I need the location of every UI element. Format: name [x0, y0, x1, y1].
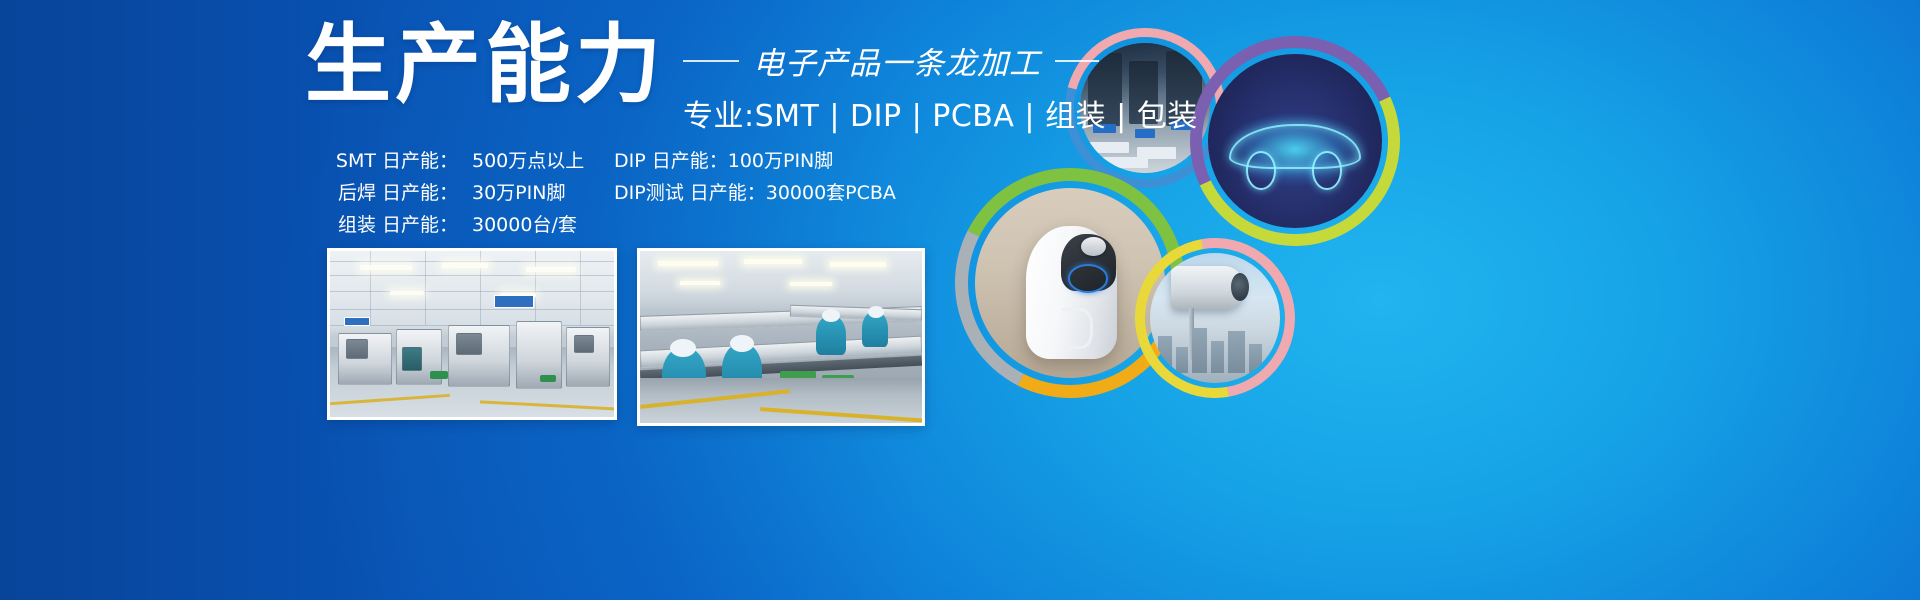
- spec-column-right: DIP 日产能： 100万PIN脚 DIP测试 日产能： 30000套PCBA: [614, 146, 896, 242]
- dash-right-icon: [1055, 60, 1099, 62]
- spec-row-smt: SMT 日产能： 500万点以上: [326, 146, 614, 178]
- page-title: 生产能力: [305, 22, 665, 110]
- automotive-electronics-photo: [1208, 54, 1382, 228]
- capacity-spec-list: SMT 日产能： 500万点以上 后焊 日产能： 30万PIN脚 组装 日产能：…: [326, 146, 896, 242]
- spec-label: 后焊 日产能：: [326, 178, 458, 205]
- subtitle-line-2: 专业:SMT | DIP | PCBA | 组装 | 包装: [683, 91, 1198, 135]
- subtitle-line-1: 电子产品一条龙加工: [683, 38, 1198, 83]
- spec-label: SMT 日产能：: [326, 146, 458, 173]
- spec-label: DIP测试 日产能：: [614, 178, 766, 205]
- spec-column-left: SMT 日产能： 500万点以上 后焊 日产能： 30万PIN脚 组装 日产能：…: [326, 146, 614, 242]
- spec-value: 30万PIN脚: [472, 178, 565, 205]
- spec-row-assembly: 组装 日产能： 30000台/套: [326, 210, 614, 242]
- spec-value: 30000套PCBA: [766, 178, 896, 205]
- photo-content: [640, 251, 922, 423]
- spec-label: DIP 日产能：: [614, 146, 728, 173]
- subtitle-group: 电子产品一条龙加工 专业:SMT | DIP | PCBA | 组装 | 包装: [683, 38, 1198, 135]
- subtitle-text: 电子产品一条龙加工: [753, 38, 1041, 83]
- spec-row-post-solder: 后焊 日产能： 30万PIN脚: [326, 178, 614, 210]
- spec-label: 组装 日产能：: [326, 210, 458, 237]
- production-capacity-banner: 生产能力 电子产品一条龙加工 专业:SMT | DIP | PCBA | 组装 …: [0, 0, 1920, 600]
- air-fryer-product-photo: [975, 188, 1165, 378]
- spec-value: 500万点以上: [472, 146, 584, 173]
- spec-value: 30000台/套: [472, 210, 577, 237]
- smt-workshop-photo: [327, 248, 617, 420]
- dash-left-icon: [683, 60, 739, 62]
- assembly-line-photo: [637, 248, 925, 426]
- photo-content: [330, 251, 614, 417]
- security-camera-photo: [1150, 253, 1280, 383]
- headline-group: 生产能力 电子产品一条龙加工 专业:SMT | DIP | PCBA | 组装 …: [305, 22, 1198, 135]
- spec-value: 100万PIN脚: [728, 146, 834, 173]
- spec-row-dip: DIP 日产能： 100万PIN脚: [614, 146, 896, 178]
- spec-row-dip-test: DIP测试 日产能： 30000套PCBA: [614, 178, 896, 210]
